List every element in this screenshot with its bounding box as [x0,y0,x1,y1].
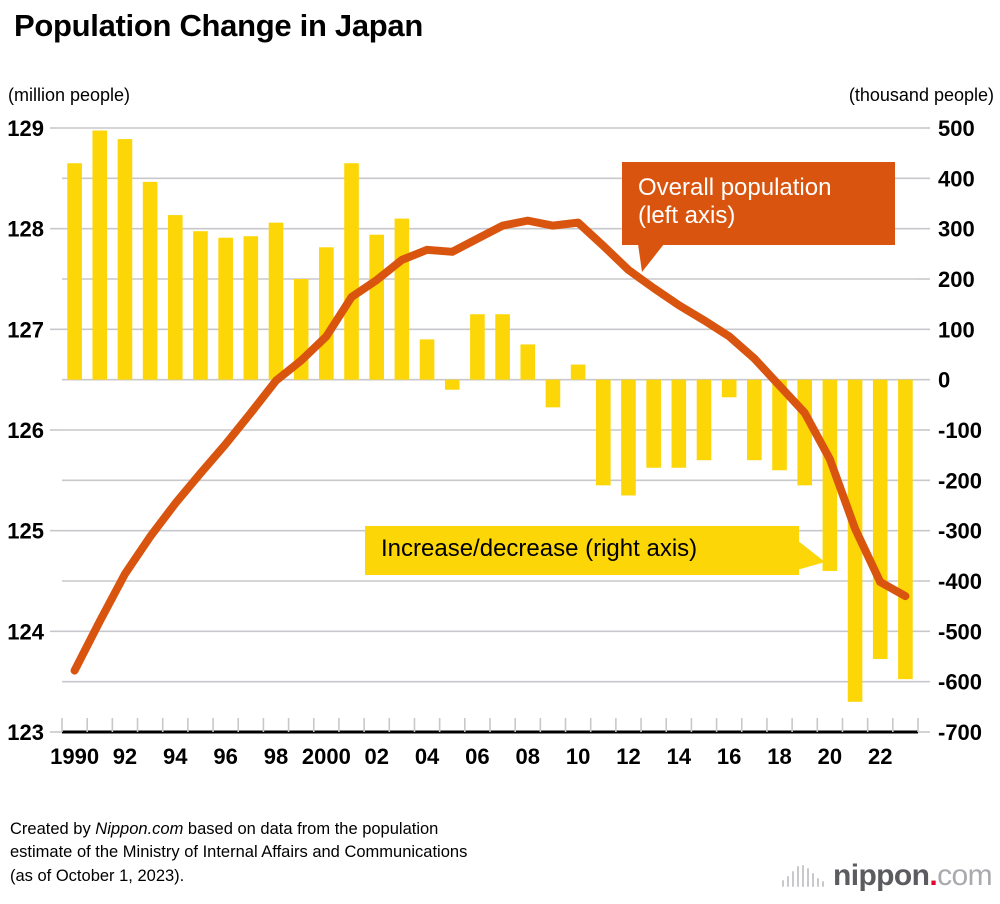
svg-text:12: 12 [616,744,640,769]
footer-source-name: Nippon.com [95,820,183,838]
svg-text:-700: -700 [938,720,982,745]
svg-text:2000: 2000 [302,744,351,769]
svg-text:125: 125 [7,519,44,544]
svg-text:200: 200 [938,267,975,292]
svg-text:123: 123 [7,720,44,745]
callout-overall-population: Overall population (left axis) [622,162,895,245]
svg-text:126: 126 [7,418,44,443]
right-axis-unit-label: (thousand people) [849,85,994,106]
svg-text:128: 128 [7,217,44,242]
svg-text:-100: -100 [938,418,982,443]
svg-text:-600: -600 [938,670,982,695]
page-title: Population Change in Japan [14,8,423,44]
footer-line-1: Created by Nippon.com based on data from… [10,818,467,841]
svg-text:-200: -200 [938,468,982,493]
svg-text:1990: 1990 [50,744,99,769]
svg-text:-300: -300 [938,519,982,544]
svg-text:04: 04 [415,744,440,769]
callout-tail-icon [638,244,670,272]
svg-text:94: 94 [163,744,188,769]
nippon-logo: nippon.com [782,861,993,891]
logo-bars-icon [782,865,825,887]
svg-text:18: 18 [767,744,791,769]
svg-text:129: 129 [7,116,44,141]
svg-text:22: 22 [868,744,892,769]
footer-credit: Created by Nippon.com based on data from… [10,818,467,888]
footer-line-2: estimate of the Ministry of Internal Aff… [10,841,467,864]
svg-text:08: 08 [516,744,540,769]
svg-text:98: 98 [264,744,288,769]
svg-text:02: 02 [364,744,388,769]
callout-increase-decrease-label: Increase/decrease (right axis) [381,535,697,562]
callout-overall-population-line1: Overall population [638,174,881,202]
svg-text:92: 92 [113,744,137,769]
svg-text:100: 100 [938,317,975,342]
callout-overall-population-line2: (left axis) [638,202,881,230]
svg-text:16: 16 [717,744,741,769]
callout-tail-icon [797,540,825,574]
svg-text:400: 400 [938,166,975,191]
left-axis-unit-label: (million people) [8,85,130,106]
callout-increase-decrease: Increase/decrease (right axis) [365,526,799,575]
footer-line-3: (as of October 1, 2023). [10,865,467,888]
logo-wordmark: nippon.com [833,861,992,891]
svg-text:06: 06 [465,744,489,769]
svg-text:14: 14 [667,744,692,769]
svg-text:124: 124 [7,619,44,644]
svg-text:127: 127 [7,317,44,342]
svg-text:0: 0 [938,368,950,393]
svg-text:96: 96 [213,744,237,769]
svg-text:300: 300 [938,217,975,242]
svg-text:10: 10 [566,744,590,769]
svg-text:20: 20 [818,744,842,769]
svg-text:500: 500 [938,116,975,141]
svg-text:-500: -500 [938,619,982,644]
svg-text:-400: -400 [938,569,982,594]
